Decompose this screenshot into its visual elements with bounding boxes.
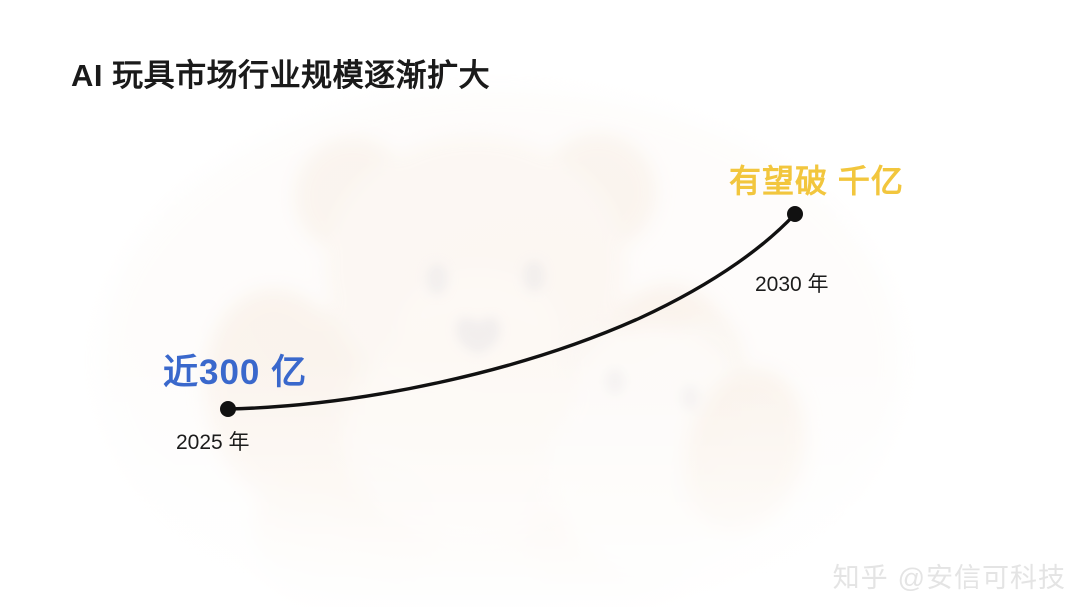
watermark: 知乎@安信可科技	[833, 556, 1066, 595]
watermark-handle: @安信可科技	[898, 563, 1066, 593]
trend-line	[228, 214, 795, 409]
start-point-marker	[220, 401, 236, 417]
end-value-label: 有望破 千亿	[729, 156, 904, 202]
growth-curve-chart	[0, 0, 1080, 607]
watermark-brand: 知乎	[833, 563, 889, 593]
start-year-label: 2025 年	[176, 426, 250, 456]
end-year-label: 2030 年	[755, 268, 829, 298]
slide-canvas: AI 玩具市场行业规模逐渐扩大 近300 亿 有望破 千亿 2025 年 203…	[0, 0, 1080, 607]
start-value-label: 近300 亿	[163, 344, 307, 395]
end-point-marker	[787, 206, 803, 222]
